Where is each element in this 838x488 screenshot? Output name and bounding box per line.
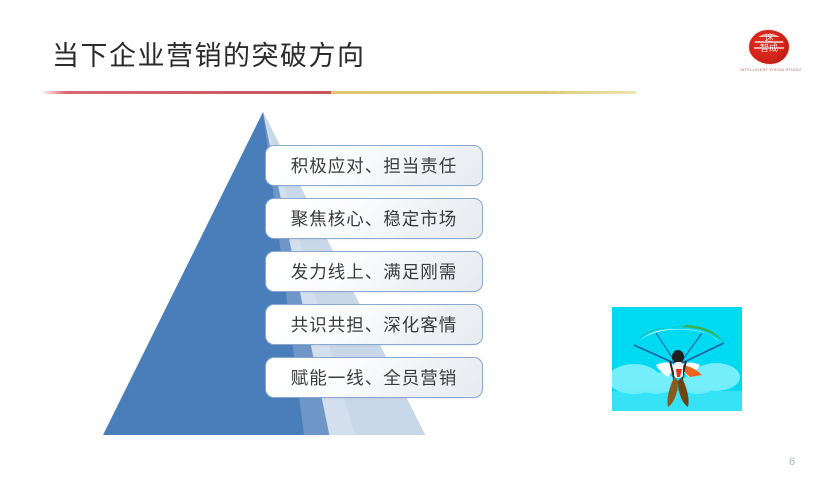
divider-accent-left <box>43 91 331 94</box>
pyramid-level-4-label: 共识共担、深化客情 <box>291 315 458 335</box>
pyramid-level-1[interactable]: 积极应对、担当责任 <box>265 145 483 186</box>
pyramid-level-2[interactable]: 聚焦核心、稳定市场 <box>265 198 483 239</box>
pyramid-level-2-label: 聚焦核心、稳定市场 <box>291 209 458 229</box>
parachutist-icon <box>612 307 742 411</box>
pyramid-level-3-label: 发力线上、满足刚需 <box>291 262 458 282</box>
pyramid-level-3[interactable]: 发力线上、满足刚需 <box>265 251 483 292</box>
pyramid-level-1-label: 积极应对、担当责任 <box>291 156 458 176</box>
pyramid-level-5-label: 赋能一线、全员营销 <box>291 368 458 388</box>
slide-canvas: 当下企业营销的突破方向 迷智成 INTELLIGENT VISION STUDI… <box>0 0 838 488</box>
pyramid-level-4[interactable]: 共识共担、深化客情 <box>265 304 483 345</box>
pyramid-level-5[interactable]: 赋能一线、全员营销 <box>265 357 483 398</box>
logo-tagline: INTELLIGENT VISION STUDIO <box>735 67 808 73</box>
seal-characters: 迷智成 <box>749 34 789 54</box>
seal-icon: 迷智成 <box>749 30 789 64</box>
company-logo: 迷智成 INTELLIGENT VISION STUDIO <box>733 30 809 76</box>
divider-accent-right <box>331 91 636 94</box>
parachutist-illustration <box>612 307 742 411</box>
page-number: 6 <box>782 455 802 469</box>
page-title: 当下企业营销的突破方向 <box>52 38 366 74</box>
